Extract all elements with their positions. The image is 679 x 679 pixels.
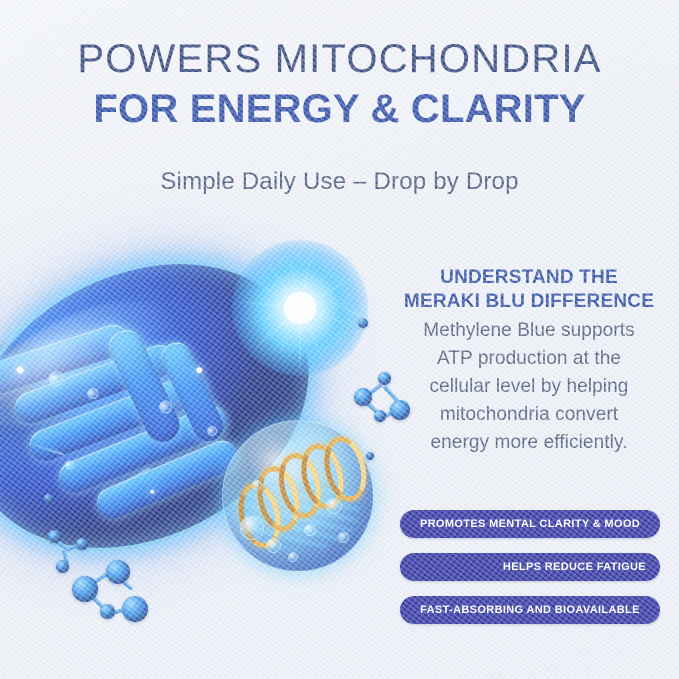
subtitle: Simple Daily Use – Drop by Drop xyxy=(0,167,679,197)
benefit-badge[interactable]: HELPS REDUCE FATIGUE xyxy=(400,553,660,581)
molecule-icon xyxy=(70,558,148,628)
info-heading-line-2: MERAKI BLU DIFFERENCE xyxy=(398,290,660,314)
molecule-icon xyxy=(366,452,374,460)
benefit-badge[interactable]: PROMOTES MENTAL CLARITY & MOOD xyxy=(400,510,660,538)
info-body-line: mitochondria convert xyxy=(398,401,660,429)
info-body-line: Methylene Blue supports xyxy=(398,317,660,345)
benefit-badge-list: PROMOTES MENTAL CLARITY & MOOD HELPS RED… xyxy=(400,510,660,639)
benefit-badge[interactable]: FAST-ABSORBING AND BIOAVAILABLE xyxy=(400,596,660,624)
info-heading-line-1: UNDERSTAND THE xyxy=(398,266,660,290)
info-body-line: ATP production at the xyxy=(398,345,660,373)
headline-line-2: FOR ENERGY & CLARITY xyxy=(0,86,679,132)
info-panel: UNDERSTAND THE MERAKI BLU DIFFERENCE Met… xyxy=(398,266,660,457)
infographic-canvas: POWERS MITOCHONDRIA FOR ENERGY & CLARITY… xyxy=(0,0,679,679)
info-body-line: cellular level by helping xyxy=(398,373,660,401)
info-panel-body: Methylene Blue supports ATP production a… xyxy=(398,317,660,457)
molecule-icon xyxy=(44,494,53,503)
molecule-icon xyxy=(358,318,368,328)
info-panel-heading: UNDERSTAND THE MERAKI BLU DIFFERENCE xyxy=(398,266,660,314)
headline-block: POWERS MITOCHONDRIA FOR ENERGY & CLARITY xyxy=(0,36,679,132)
info-body-line: energy more efficiently. xyxy=(398,429,660,457)
atp-synthase-sphere-illustration xyxy=(222,420,374,572)
headline-line-1: POWERS MITOCHONDRIA xyxy=(0,36,679,82)
